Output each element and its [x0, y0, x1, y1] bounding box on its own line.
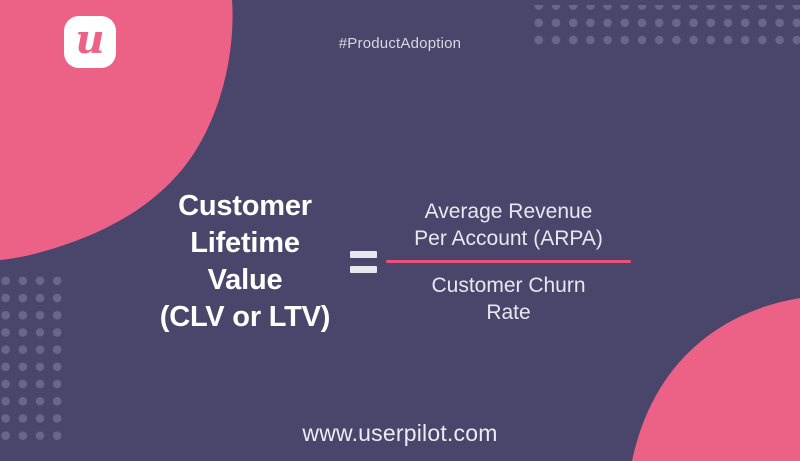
equals-bar-top: [350, 251, 377, 258]
hashtag-label: #ProductAdoption: [0, 35, 800, 52]
fraction-denominator: Customer Churn Rate: [386, 263, 631, 327]
formula-left-side: Customer Lifetime Value (CLV or LTV): [150, 188, 340, 336]
clv-line-2: Lifetime: [150, 225, 340, 262]
numerator-line-1: Average Revenue: [386, 198, 631, 225]
clv-line-4: (CLV or LTV): [150, 299, 340, 336]
equals-sign-icon: [340, 251, 386, 273]
formula-block: Customer Lifetime Value (CLV or LTV) Ave…: [150, 188, 650, 336]
bottom-left-dot-grid: [0, 272, 63, 444]
clv-line-3: Value: [150, 262, 340, 299]
fraction-numerator: Average Revenue Per Account (ARPA): [386, 198, 631, 260]
denominator-line-2: Rate: [386, 299, 631, 326]
footer-website-url: www.userpilot.com: [0, 420, 800, 447]
numerator-line-2: Per Account (ARPA): [386, 225, 631, 252]
formula-right-side: Average Revenue Per Account (ARPA) Custo…: [386, 198, 631, 326]
graphic-canvas: u #ProductAdoption Customer Lifetime Val…: [0, 0, 800, 461]
clv-line-1: Customer: [150, 188, 340, 225]
equals-bar-bottom: [350, 266, 377, 273]
denominator-line-1: Customer Churn: [386, 272, 631, 299]
